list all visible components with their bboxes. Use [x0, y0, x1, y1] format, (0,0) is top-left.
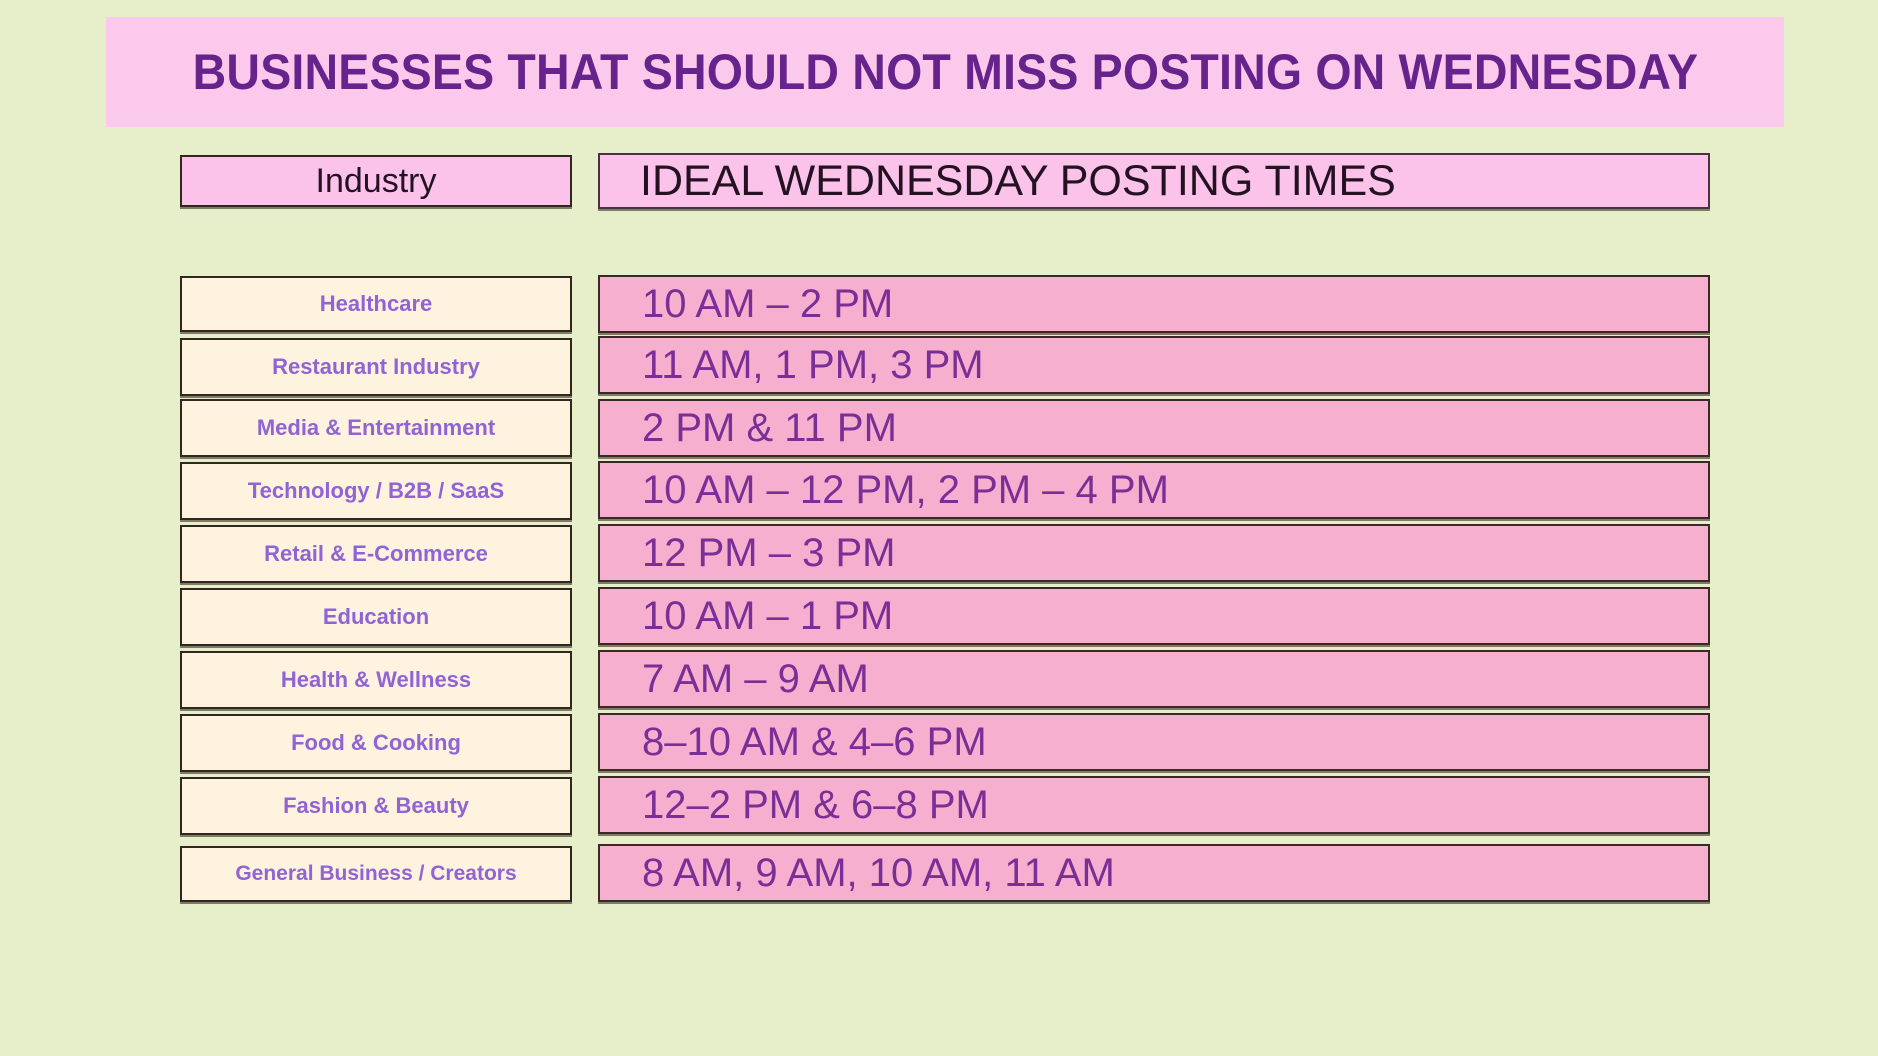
times-cell-general-business-creators: 8 AM, 9 AM, 10 AM, 11 AM	[598, 844, 1710, 902]
page-title: BUSINESSES THAT SHOULD NOT MISS POSTING …	[192, 43, 1698, 101]
times-cell-education: 10 AM – 1 PM	[598, 587, 1710, 645]
industry-cell-food-cooking: Food & Cooking	[180, 714, 572, 772]
industry-cell-media-entertainment: Media & Entertainment	[180, 399, 572, 457]
table-header-row: Industry IDEAL WEDNESDAY POSTING TIMES	[0, 155, 1878, 226]
industry-cell-health-wellness: Health & Wellness	[180, 651, 572, 709]
times-cell-media-entertainment: 2 PM & 11 PM	[598, 399, 1710, 457]
times-cell-retail-ecommerce: 12 PM – 3 PM	[598, 524, 1710, 582]
industry-cell-technology-b2b-saas: Technology / B2B / SaaS	[180, 462, 572, 520]
industry-cell-fashion-beauty: Fashion & Beauty	[180, 777, 572, 835]
times-cell-restaurant-industry: 11 AM, 1 PM, 3 PM	[598, 336, 1710, 394]
times-cell-fashion-beauty: 12–2 PM & 6–8 PM	[598, 776, 1710, 834]
times-cell-technology-b2b-saas: 10 AM – 12 PM, 2 PM – 4 PM	[598, 461, 1710, 519]
times-cell-food-cooking: 8–10 AM & 4–6 PM	[598, 713, 1710, 771]
industry-cell-general-business-creators: General Business / Creators	[180, 846, 572, 902]
column-header-industry: Industry	[180, 155, 572, 207]
column-header-times: IDEAL WEDNESDAY POSTING TIMES	[598, 153, 1710, 209]
posting-times-table: Industry IDEAL WEDNESDAY POSTING TIMES H…	[0, 155, 1878, 226]
industry-cell-education: Education	[180, 588, 572, 646]
times-cell-health-wellness: 7 AM – 9 AM	[598, 650, 1710, 708]
industry-cell-retail-ecommerce: Retail & E-Commerce	[180, 525, 572, 583]
title-banner: BUSINESSES THAT SHOULD NOT MISS POSTING …	[106, 17, 1784, 127]
industry-cell-healthcare: Healthcare	[180, 276, 572, 332]
industry-cell-restaurant-industry: Restaurant Industry	[180, 338, 572, 396]
times-cell-healthcare: 10 AM – 2 PM	[598, 275, 1710, 333]
